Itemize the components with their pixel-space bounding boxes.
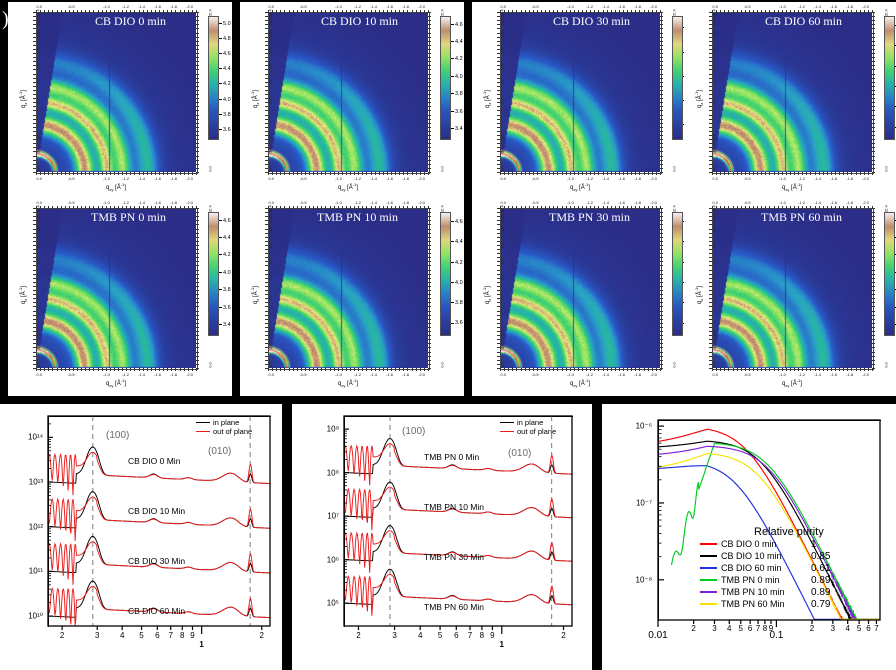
colorbar-tick-label: 4.2 xyxy=(451,56,463,62)
xtick-label: 2 xyxy=(561,631,565,640)
giwaxs-xtick-label: -1.2 xyxy=(798,4,805,9)
legend-item: CB DIO 10 min0.85 xyxy=(700,550,830,562)
legend-label: out of plane xyxy=(213,427,252,436)
legend-item: CB DIO 0 min1 xyxy=(700,538,830,550)
giwaxs-panel-title: CB DIO 10 min xyxy=(321,14,398,29)
giwaxs-panel-3: CB DIO 60 min0.0-0.5-1.0-1.2-1.4-1.6-1.8… xyxy=(684,2,896,200)
ytick-label: 10¹¹ xyxy=(0,567,43,576)
giwaxs-xtick-label: -1.4 xyxy=(602,4,609,9)
curve-label: TMB PN 10 Min xyxy=(424,502,484,512)
xtick-label: 1 xyxy=(500,640,504,649)
xtick-label: 2 xyxy=(260,631,264,640)
giwaxs-xtick-label: -1.6 xyxy=(386,4,393,9)
colorbar-tick-label: 4.0 xyxy=(219,270,231,276)
xtick-label: 4 xyxy=(845,624,849,633)
colorbar-tick-label: 4.2 xyxy=(219,81,231,87)
giwaxs-xtick-label: -1.4 xyxy=(814,176,821,181)
xtick-label: 2 xyxy=(60,631,64,640)
giwaxs-ytick-label: 1.6 xyxy=(500,48,505,54)
curve-label: CB DIO 0 Min xyxy=(128,456,180,466)
giwaxs-xtick-label: -1.0 xyxy=(779,372,786,377)
legend-purity-value: 0.89 xyxy=(811,587,830,598)
xtick-label: 6 xyxy=(866,624,870,633)
giwaxs-panel-4: TMB PN 0 min0.0-0.5-1.0-1.2-1.4-1.6-1.8-… xyxy=(8,198,232,396)
giwaxs-ytick-label: 2.0 xyxy=(268,216,273,222)
giwaxs-xticks-bottom xyxy=(36,172,196,175)
giwaxs-ytick-label: 1.2 xyxy=(268,80,273,86)
legend-item: out of plane xyxy=(500,427,556,436)
giwaxs-xtick-label: -1.4 xyxy=(602,176,609,181)
giwaxs-xticks-top xyxy=(712,10,872,13)
giwaxs-xtick-label: -2.0 xyxy=(650,176,657,181)
giwaxs-plot-frame xyxy=(712,12,874,174)
xtick-label: 7 xyxy=(468,631,472,640)
colorbar-tick-label: 3.8 xyxy=(219,287,231,293)
giwaxs-xtick-label: -1.0 xyxy=(335,4,342,9)
giwaxs-ytick-label: 2.4 xyxy=(712,205,717,211)
giwaxs-xaxis-title: qxy [Å-1] xyxy=(106,182,126,192)
giwaxs-ytick-label: 1.8 xyxy=(36,32,41,38)
giwaxs-panel-title: CB DIO 60 min xyxy=(765,14,842,29)
giwaxs-xticks-top xyxy=(268,10,428,13)
giwaxs-ytick-label: 0.0 xyxy=(884,362,889,368)
colorbar-tick-label: 3.6 xyxy=(219,127,231,133)
giwaxs-panel-title: TMB PN 60 min xyxy=(761,210,842,225)
giwaxs-xtick-label: -2.0 xyxy=(418,200,425,205)
legend-item: TMB PN 60 Min0.79 xyxy=(700,598,830,610)
giwaxs-ytick-label: 2.2 xyxy=(500,14,505,20)
giwaxs-ytick-label: 0.0 xyxy=(268,362,273,368)
giwaxs-xtick-label: -1.0 xyxy=(335,372,342,377)
giwaxs-xtick-label: -1.4 xyxy=(138,176,145,181)
giwaxs-ytick-label: 0.0 xyxy=(268,166,273,172)
giwaxs-xtick-label: -1.6 xyxy=(830,4,837,9)
legend-label: TMB PN 10 min xyxy=(721,587,807,597)
giwaxs-ytick-label: 0.5 xyxy=(500,134,505,140)
colorbar-tick-label: 4.2 xyxy=(219,252,231,258)
giwaxs-xtick-label: -1.6 xyxy=(618,4,625,9)
colorbar-tick-label: 3.6 xyxy=(219,305,231,311)
colorbar-tick-label: 4.4 xyxy=(219,66,231,72)
giwaxs-xticks-top xyxy=(500,206,660,209)
xtick-label: 8 xyxy=(763,624,767,633)
colorbar-tick-label: 3.4 xyxy=(451,126,463,132)
giwaxs-xtick-label: -1.8 xyxy=(402,4,409,9)
giwaxs-xaxis-title: qxy [Å-1] xyxy=(782,378,802,388)
giwaxs-ytick-label: 2.2 xyxy=(268,14,273,20)
giwaxs-ytick-label: 2.2 xyxy=(36,210,41,216)
giwaxs-xtick-label: -2.0 xyxy=(186,4,193,9)
giwaxs-xtick-label: -1.6 xyxy=(154,200,161,205)
giwaxs-xtick-label: -1.0 xyxy=(103,4,110,9)
legend-purity-value: 0.61 xyxy=(811,563,830,574)
legend-swatch xyxy=(700,591,717,593)
giwaxs-ytick-label: 1.2 xyxy=(268,276,273,282)
giwaxs-ytick-label: 2.0 xyxy=(36,20,41,26)
giwaxs-colorbar xyxy=(440,212,451,336)
legend-item: CB DIO 60 min0.61 xyxy=(700,562,830,574)
giwaxs-colorbar xyxy=(208,16,219,140)
giwaxs-ytick-label: 1.6 xyxy=(36,48,41,54)
legend-swatch-out-of-plane xyxy=(196,431,210,433)
giwaxs-xtick-label: -1.2 xyxy=(798,200,805,205)
giwaxs-xtick-label: -1.8 xyxy=(634,4,641,9)
giwaxs-ytick-label: 2.4 xyxy=(500,205,505,211)
legend-swatch-in-plane xyxy=(196,422,210,424)
xtick-label: 4 xyxy=(727,624,731,633)
giwaxs-xtick-label: -0.5 xyxy=(68,4,75,9)
giwaxs-ytick-label: 1.0 xyxy=(712,99,717,105)
giwaxs-xtick-label: -1.2 xyxy=(798,176,805,181)
figure-root: ) CB DIO 0 min0.0-0.5-1.0-1.2-1.4-1.6-1.… xyxy=(0,0,896,670)
giwaxs-ytick-label: 0.0 xyxy=(500,166,505,172)
giwaxs-xtick-label: -0.5 xyxy=(744,176,751,181)
giwaxs-xticks-bottom xyxy=(500,172,660,175)
giwaxs-xtick-label: -1.0 xyxy=(103,372,110,377)
giwaxs-ytick-label: 1.4 xyxy=(500,64,505,70)
giwaxs-xtick-label: -0.5 xyxy=(300,176,307,181)
legend-swatch-out-of-plane xyxy=(500,431,514,433)
giwaxs-xaxis-title: qxy [Å-1] xyxy=(570,378,590,388)
giwaxs-xtick-label: -1.2 xyxy=(354,4,361,9)
giwaxs-ytick-label: 1.4 xyxy=(712,64,717,70)
giwaxs-ytick-label: 2.2 xyxy=(500,210,505,216)
giwaxs-xtick-label: -1.8 xyxy=(846,200,853,205)
xtick-label: 5 xyxy=(739,624,743,633)
giwaxs-ytick-label: 1.4 xyxy=(36,64,41,70)
giwaxs-ytick-label: 2.4 xyxy=(884,9,889,15)
giwaxs-xticks-bottom xyxy=(36,368,196,371)
legend-label: in plane xyxy=(213,418,239,427)
giwaxs-ytick-label: 1.0 xyxy=(500,295,505,301)
giwaxs-xtick-label: -1.4 xyxy=(370,176,377,181)
giwaxs-xtick-label: -0.5 xyxy=(532,4,539,9)
giwaxs-yticks-right xyxy=(660,12,663,172)
giwaxs-xtick-label: -1.8 xyxy=(634,200,641,205)
giwaxs-panel-2: CB DIO 30 min0.0-0.5-1.0-1.2-1.4-1.6-1.8… xyxy=(472,2,696,200)
giwaxs-xtick-label: 0.0 xyxy=(36,176,42,181)
giwaxs-ytick-label: 2.4 xyxy=(208,205,213,211)
colorbar-tick-label: 4.0 xyxy=(451,74,463,80)
giwaxs-xaxis-title: qxy [Å-1] xyxy=(570,182,590,192)
giwaxs-xtick-label: -0.5 xyxy=(68,200,75,205)
giwaxs-yticks-right xyxy=(872,12,875,172)
giwaxs-xtick-label: -1.2 xyxy=(586,176,593,181)
giwaxs-ytick-label: 2.4 xyxy=(500,9,505,15)
giwaxs-panel-title: TMB PN 10 min xyxy=(317,210,398,225)
giwaxs-colorbar xyxy=(884,16,895,140)
giwaxs-ytick-label: 2.4 xyxy=(440,9,445,15)
ytick-label: 10¹⁰ xyxy=(0,612,43,621)
panel-b: (b) Intensity(a.u.) Q vector [Å-1] 10¹⁰1… xyxy=(0,404,282,670)
giwaxs-ytick-label: 1.2 xyxy=(500,276,505,282)
giwaxs-plot-frame xyxy=(712,208,874,370)
panel-c-legend: in plane out of plane xyxy=(500,418,556,436)
xtick-label: 8 xyxy=(180,631,184,640)
colorbar-tick-label: 3.6 xyxy=(451,109,463,115)
giwaxs-colorbar xyxy=(884,212,895,336)
ytick-label: 10⁸ xyxy=(292,468,339,477)
giwaxs-xtick-label: -1.8 xyxy=(402,200,409,205)
giwaxs-ytick-label: 2.4 xyxy=(36,9,41,15)
giwaxs-ytick-label: 1.2 xyxy=(36,80,41,86)
giwaxs-ytick-label: 1.8 xyxy=(712,32,717,38)
giwaxs-panel-title: CB DIO 30 min xyxy=(553,14,630,29)
giwaxs-ytick-label: 1.2 xyxy=(712,276,717,282)
xtick-label: 3 xyxy=(392,631,396,640)
giwaxs-ytick-label: 2.4 xyxy=(268,9,273,15)
xtick-label: 7 xyxy=(168,631,172,640)
giwaxs-ytick-label: 1.8 xyxy=(36,228,41,234)
giwaxs-ytick-label: 2.0 xyxy=(36,216,41,222)
giwaxs-xtick-label: 0.0 xyxy=(268,372,274,377)
colorbar-tick-label: 4.2 xyxy=(451,260,463,266)
curve-label: TMB PN 30 Min xyxy=(424,552,484,562)
giwaxs-ytick-label: 0.0 xyxy=(500,362,505,368)
giwaxs-plot-frame xyxy=(36,208,198,370)
xtick-label: 6 xyxy=(748,624,752,633)
legend-swatch xyxy=(700,579,717,581)
colorbar-tick-label: 4.0 xyxy=(451,280,463,286)
legend-purity-value: 0.89 xyxy=(811,575,830,586)
legend-item: in plane xyxy=(500,418,556,427)
giwaxs-yaxis-title: qz [Å-1] xyxy=(482,286,492,304)
xtick-label: 1 xyxy=(199,640,203,649)
giwaxs-ytick-label: 1.8 xyxy=(712,228,717,234)
giwaxs-yticks-right xyxy=(196,12,199,172)
giwaxs-plot-frame xyxy=(500,12,662,174)
giwaxs-yticks-right xyxy=(196,208,199,368)
giwaxs-xtick-label: -1.6 xyxy=(154,372,161,377)
giwaxs-xtick-label: -1.8 xyxy=(634,176,641,181)
legend-label: CB DIO 10 min xyxy=(721,551,807,561)
giwaxs-xtick-label: -0.5 xyxy=(532,176,539,181)
giwaxs-panel-title: TMB PN 30 min xyxy=(549,210,630,225)
giwaxs-xticks-bottom xyxy=(268,172,428,175)
legend-item: TMB PN 10 min0.89 xyxy=(700,586,830,598)
giwaxs-xticks-bottom xyxy=(500,368,660,371)
giwaxs-ytick-label: 0.5 xyxy=(500,330,505,336)
giwaxs-xtick-label: -1.0 xyxy=(567,200,574,205)
panel-divider-bc xyxy=(282,404,292,670)
giwaxs-xticks-top xyxy=(712,206,872,209)
giwaxs-xticks-bottom xyxy=(712,368,872,371)
giwaxs-panel-5: TMB PN 10 min0.0-0.5-1.0-1.2-1.4-1.6-1.8… xyxy=(240,198,464,396)
giwaxs-xtick-label: 0.0 xyxy=(712,372,718,377)
giwaxs-ytick-label: 1.4 xyxy=(36,260,41,266)
giwaxs-ytick-label: 2.2 xyxy=(712,210,717,216)
ytick-label: 10¹² xyxy=(0,522,43,531)
giwaxs-xtick-label: -1.0 xyxy=(335,176,342,181)
giwaxs-colorbar xyxy=(440,16,451,140)
giwaxs-ytick-label: 2.4 xyxy=(208,9,213,15)
giwaxs-xtick-label: -1.4 xyxy=(814,200,821,205)
giwaxs-ytick-label: 2.4 xyxy=(884,205,889,211)
colorbar-tick-label: 3.8 xyxy=(219,112,231,118)
legend-swatch xyxy=(700,567,717,569)
giwaxs-xtick-label: -1.4 xyxy=(138,200,145,205)
giwaxs-panel-1: CB DIO 10 min0.0-0.5-1.0-1.2-1.4-1.6-1.8… xyxy=(240,2,464,200)
giwaxs-xtick-label: -1.4 xyxy=(370,372,377,377)
giwaxs-ytick-label: 1.8 xyxy=(268,228,273,234)
giwaxs-ytick-label: 0.0 xyxy=(672,166,677,172)
colorbar-tick-label: 3.8 xyxy=(451,91,463,97)
giwaxs-xtick-label: -1.0 xyxy=(335,200,342,205)
giwaxs-xtick-label: -1.2 xyxy=(354,372,361,377)
giwaxs-ytick-label: 0.5 xyxy=(712,134,717,140)
giwaxs-ytick-label: 0.5 xyxy=(36,330,41,336)
ytick-label: 10⁹ xyxy=(292,425,339,434)
giwaxs-xtick-label: -1.8 xyxy=(170,200,177,205)
giwaxs-plot-frame xyxy=(36,12,198,174)
giwaxs-xtick-label: -1.6 xyxy=(830,200,837,205)
ytick-label: 10⁵ xyxy=(292,599,339,608)
colorbar-tick-label: 4.6 xyxy=(219,218,231,224)
giwaxs-xaxis-title: qxy [Å-1] xyxy=(782,182,802,192)
legend-label: in plane xyxy=(517,418,543,427)
giwaxs-yaxis-title: qz [Å-1] xyxy=(250,286,260,304)
giwaxs-xtick-label: -1.2 xyxy=(354,200,361,205)
giwaxs-xtick-label: 0.0 xyxy=(712,176,718,181)
giwaxs-ytick-label: 1.8 xyxy=(500,228,505,234)
giwaxs-xtick-label: -1.0 xyxy=(779,200,786,205)
panel-b-annotation-010: (010) xyxy=(208,446,231,457)
legend-purity-value: 0.79 xyxy=(811,599,830,610)
giwaxs-xtick-label: -1.6 xyxy=(154,4,161,9)
xtick-label: 5 xyxy=(438,631,442,640)
legend-purity-value: 1 xyxy=(811,539,817,550)
giwaxs-ytick-label: 2.2 xyxy=(712,14,717,20)
panel-c: (c) Intensity(a.u.) Q vector [Å-1] 10⁵10… xyxy=(292,404,592,670)
giwaxs-xtick-label: -1.6 xyxy=(154,176,161,181)
giwaxs-plot-frame xyxy=(268,12,430,174)
giwaxs-xtick-label: 0.0 xyxy=(36,372,42,377)
giwaxs-ytick-label: 2.4 xyxy=(36,205,41,211)
giwaxs-xaxis-title: qxy [Å-1] xyxy=(338,378,358,388)
giwaxs-ytick-label: 0.0 xyxy=(712,166,717,172)
giwaxs-xtick-label: -1.4 xyxy=(814,372,821,377)
giwaxs-xtick-label: -0.5 xyxy=(68,372,75,377)
giwaxs-colorbar xyxy=(672,16,683,140)
giwaxs-xtick-label: -2.0 xyxy=(862,372,869,377)
giwaxs-ytick-label: 1.6 xyxy=(36,244,41,250)
giwaxs-xtick-label: -1.0 xyxy=(567,176,574,181)
legend-item: TMB PN 0 min0.89 xyxy=(700,574,830,586)
giwaxs-xtick-label: -1.4 xyxy=(138,372,145,377)
giwaxs-ytick-label: 0.0 xyxy=(672,362,677,368)
colorbar-tick-label: 5.0 xyxy=(219,21,231,27)
xtick-label: 0.1 xyxy=(769,630,783,641)
giwaxs-plot-frame xyxy=(500,208,662,370)
giwaxs-xtick-label: -0.5 xyxy=(744,372,751,377)
giwaxs-xtick-label: -2.0 xyxy=(862,200,869,205)
legend-title: Relative purity xyxy=(754,526,830,538)
legend-item: in plane xyxy=(196,418,252,427)
legend-swatch xyxy=(700,543,717,545)
curve-label: CB DIO 60 Min xyxy=(128,606,185,616)
xtick-label: 4 xyxy=(120,631,124,640)
xtick-label: 8 xyxy=(480,631,484,640)
giwaxs-xtick-label: -2.0 xyxy=(650,372,657,377)
giwaxs-xaxis-title: qxy [Å-1] xyxy=(106,378,126,388)
legend-purity-value: 0.85 xyxy=(811,551,830,562)
giwaxs-ytick-label: 0.0 xyxy=(712,362,717,368)
giwaxs-xtick-label: -1.8 xyxy=(846,4,853,9)
giwaxs-xtick-label: -1.8 xyxy=(634,372,641,377)
xtick-label: 3 xyxy=(831,624,835,633)
colorbar-tick-label: 4.4 xyxy=(451,39,463,45)
giwaxs-xtick-label: -1.2 xyxy=(798,372,805,377)
giwaxs-ytick-label: 1.2 xyxy=(712,80,717,86)
giwaxs-xtick-label: -0.5 xyxy=(744,200,751,205)
xtick-label: 5 xyxy=(857,624,861,633)
giwaxs-panel-title: CB DIO 0 min xyxy=(95,14,166,29)
giwaxs-xtick-label: -0.5 xyxy=(68,176,75,181)
giwaxs-xtick-label: -0.5 xyxy=(532,200,539,205)
giwaxs-xtick-label: -1.6 xyxy=(618,200,625,205)
giwaxs-ytick-label: 0.5 xyxy=(268,134,273,140)
ytick-label: 10⁻⁸ xyxy=(602,575,652,584)
giwaxs-xtick-label: -1.6 xyxy=(386,200,393,205)
giwaxs-xtick-label: -1.0 xyxy=(103,176,110,181)
giwaxs-ytick-label: 1.0 xyxy=(268,295,273,301)
legend-label: CB DIO 0 min xyxy=(721,539,807,549)
colorbar-tick-label: 4.6 xyxy=(451,22,463,28)
curve-label: CB DIO 10 Min xyxy=(128,506,185,516)
giwaxs-xtick-label: -1.0 xyxy=(779,176,786,181)
giwaxs-xtick-label: -1.6 xyxy=(618,372,625,377)
giwaxs-yaxis-title: qz [Å-1] xyxy=(694,286,704,304)
giwaxs-ytick-label: 0.0 xyxy=(36,166,41,172)
legend-swatch-in-plane xyxy=(500,422,514,424)
giwaxs-xtick-label: -2.0 xyxy=(418,372,425,377)
giwaxs-xtick-label: -1.2 xyxy=(586,372,593,377)
giwaxs-colorbar xyxy=(208,212,219,336)
giwaxs-ytick-label: 0.5 xyxy=(268,330,273,336)
giwaxs-ytick-label: 1.4 xyxy=(268,64,273,70)
giwaxs-xtick-label: -1.8 xyxy=(170,176,177,181)
giwaxs-xtick-label: 0.0 xyxy=(268,176,274,181)
giwaxs-xtick-label: -1.6 xyxy=(618,176,625,181)
panel-d: (d) Intensity·q2 (a.u.) q (nm-1) 10⁻⁶ 10… xyxy=(602,404,896,670)
giwaxs-ytick-label: 1.4 xyxy=(712,260,717,266)
giwaxs-ytick-label: 0.0 xyxy=(208,166,213,172)
giwaxs-ytick-label: 1.8 xyxy=(268,32,273,38)
giwaxs-xticks-top xyxy=(268,206,428,209)
giwaxs-xtick-label: -1.0 xyxy=(779,4,786,9)
ytick-label: 10¹⁴ xyxy=(0,433,43,442)
xtick-label: 9 xyxy=(490,631,494,640)
giwaxs-xtick-label: -2.0 xyxy=(862,176,869,181)
giwaxs-xticks-bottom xyxy=(712,172,872,175)
giwaxs-ytick-label: 2.4 xyxy=(672,205,677,211)
colorbar-tick-label: 4.6 xyxy=(451,219,463,225)
giwaxs-xtick-label: -1.0 xyxy=(103,200,110,205)
colorbar-tick-label: 4.8 xyxy=(219,36,231,42)
xtick-label: 6 xyxy=(454,631,458,640)
giwaxs-ytick-label: 2.0 xyxy=(268,20,273,26)
giwaxs-yticks-right xyxy=(872,208,875,368)
xtick-label: 3 xyxy=(95,631,99,640)
giwaxs-ytick-label: 2.0 xyxy=(500,216,505,222)
giwaxs-xtick-label: -1.8 xyxy=(402,176,409,181)
xtick-label: 6 xyxy=(155,631,159,640)
giwaxs-ytick-label: 2.0 xyxy=(500,20,505,26)
giwaxs-xtick-label: -0.5 xyxy=(300,200,307,205)
panel-b-annotation-100: (100) xyxy=(106,430,129,441)
giwaxs-xtick-label: -1.2 xyxy=(122,4,129,9)
giwaxs-ytick-label: 1.0 xyxy=(36,295,41,301)
